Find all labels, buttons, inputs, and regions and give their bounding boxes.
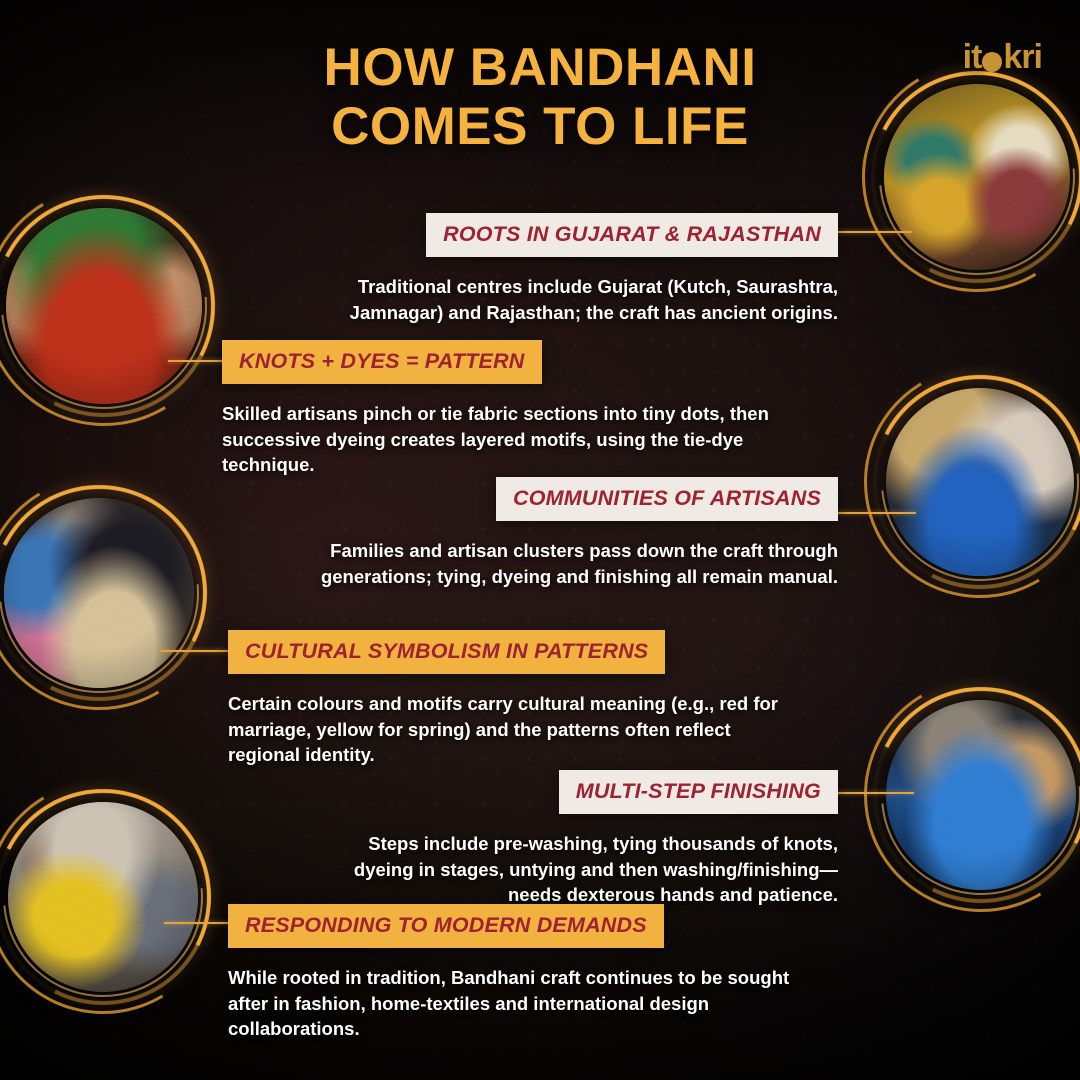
connector-line-symbolism <box>160 650 228 652</box>
connector-line-roots <box>836 231 912 233</box>
section-body-knots-dyes: Skilled artisans pinch or tie fabric sec… <box>222 401 782 478</box>
section-finishing: MULTI-STEP FINISHING Steps include pre-w… <box>310 770 838 908</box>
infographic-poster: HOW BANDHANI COMES TO LIFE it kri <box>0 0 1080 1080</box>
section-roots: ROOTS IN GUJARAT & RAJASTHAN Traditional… <box>266 213 838 325</box>
section-communities: COMMUNITIES OF ARTISANS Families and art… <box>240 477 838 589</box>
section-symbolism: CULTURAL SYMBOLISM IN PATTERNS Certain c… <box>228 630 788 768</box>
connector-line-communities <box>836 512 916 514</box>
page-title-line-1: HOW BANDHANI <box>0 38 1080 97</box>
connector-line-modern <box>164 922 228 924</box>
section-body-roots: Traditional centres include Gujarat (Kut… <box>266 274 838 325</box>
section-heading-symbolism: CULTURAL SYMBOLISM IN PATTERNS <box>228 630 665 674</box>
photo-artisan-lifting-yellow-fabric <box>8 802 198 992</box>
section-knots-dyes: KNOTS + DYES = PATTERN Skilled artisans … <box>222 340 782 478</box>
connector-line-knots-dyes <box>168 360 228 362</box>
page-title-line-2: COMES TO LIFE <box>0 97 1080 156</box>
photo-artisan-dipping-blue-dye <box>886 388 1074 576</box>
brand-logo-text-start: it <box>963 38 982 77</box>
section-modern: RESPONDING TO MODERN DEMANDS While roote… <box>228 904 798 1042</box>
section-heading-communities: COMMUNITIES OF ARTISANS <box>496 477 838 521</box>
section-heading-roots: ROOTS IN GUJARAT & RAJASTHAN <box>426 213 838 257</box>
brand-logo[interactable]: it kri <box>963 38 1042 77</box>
page-title: HOW BANDHANI COMES TO LIFE <box>0 38 1080 157</box>
section-body-symbolism: Certain colours and motifs carry cultura… <box>228 691 788 768</box>
section-body-finishing: Steps include pre-washing, tying thousan… <box>310 831 838 908</box>
section-heading-modern: RESPONDING TO MODERN DEMANDS <box>228 904 664 948</box>
brand-logo-text-end: kri <box>1003 38 1042 77</box>
section-heading-finishing: MULTI-STEP FINISHING <box>559 770 838 814</box>
section-body-modern: While rooted in tradition, Bandhani craf… <box>228 965 798 1042</box>
section-heading-knots-dyes: KNOTS + DYES = PATTERN <box>222 340 542 384</box>
circle-icon <box>982 52 1002 72</box>
section-body-communities: Families and artisan clusters pass down … <box>240 538 838 589</box>
photo-women-knotting-cloth <box>4 498 194 688</box>
connector-line-finishing <box>834 792 914 794</box>
photo-hands-tying-red-fabric <box>6 208 202 404</box>
photo-fabric-in-blue-vat <box>886 700 1076 890</box>
